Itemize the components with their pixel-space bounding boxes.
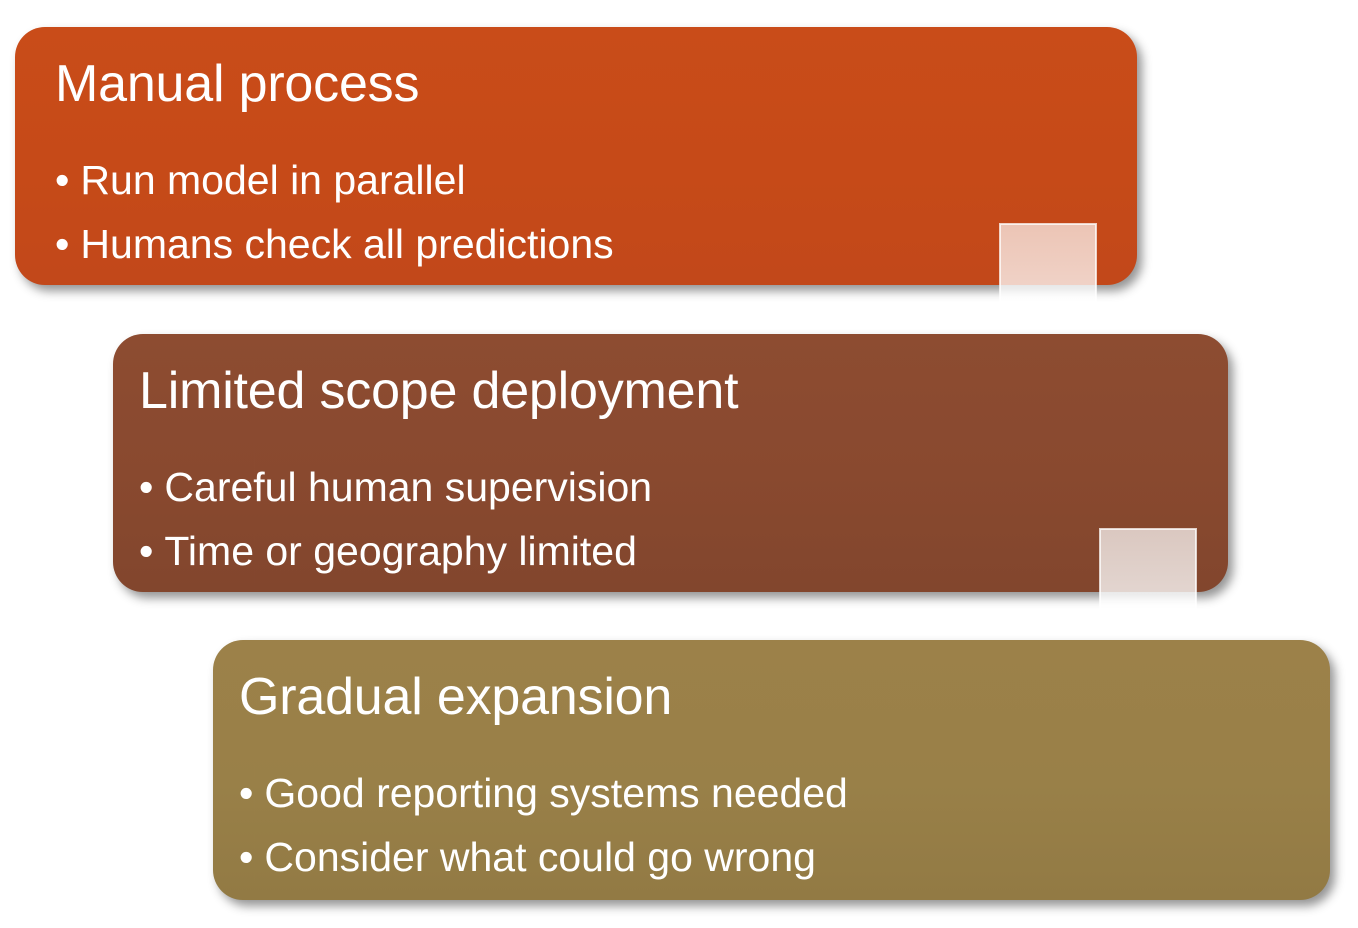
- list-item: •Good reporting systems needed: [239, 773, 1330, 814]
- stage-bullet-list-manual-process: •Run model in parallel •Humans check all…: [55, 160, 1137, 285]
- list-item: •Run model in parallel: [55, 160, 1137, 201]
- stage-bullet-list-limited-scope-deployment: •Careful human supervision •Time or geog…: [139, 467, 1228, 592]
- bullet-icon: •: [55, 224, 80, 265]
- list-item: •Time or geography limited: [139, 531, 1228, 572]
- bullet-text: Consider what could go wrong: [264, 834, 816, 880]
- stage-bullet-list-gradual-expansion: •Good reporting systems needed •Consider…: [239, 773, 1330, 900]
- bullet-text: Run model in parallel: [80, 157, 465, 203]
- bullet-icon: •: [239, 837, 264, 878]
- stage-card-gradual-expansion[interactable]: Gradual expansion •Good reporting system…: [213, 640, 1330, 900]
- stage-card-body: Manual process •Run model in parallel •H…: [15, 27, 1137, 285]
- bullet-icon: •: [139, 531, 164, 572]
- list-item: •Careful human supervision: [139, 467, 1228, 508]
- bullet-icon: •: [139, 467, 164, 508]
- bullet-icon: •: [55, 160, 80, 201]
- stage-card-body: Limited scope deployment •Careful human …: [113, 334, 1228, 592]
- stage-card-limited-scope-deployment[interactable]: Limited scope deployment •Careful human …: [113, 334, 1228, 592]
- list-item: •Consider what could go wrong: [239, 837, 1330, 878]
- stage-title-limited-scope-deployment: Limited scope deployment: [139, 365, 1228, 417]
- list-item: •Humans check all predictions: [55, 224, 1137, 265]
- bullet-text: Time or geography limited: [164, 528, 636, 574]
- process-flow-diagram: Manual process •Run model in parallel •H…: [0, 0, 1358, 928]
- bullet-icon: •: [239, 773, 264, 814]
- bullet-text: Careful human supervision: [164, 464, 652, 510]
- bullet-text: Humans check all predictions: [80, 221, 613, 267]
- stage-title-manual-process: Manual process: [55, 58, 1137, 110]
- stage-card-body: Gradual expansion •Good reporting system…: [213, 640, 1330, 900]
- stage-card-manual-process[interactable]: Manual process •Run model in parallel •H…: [15, 27, 1137, 285]
- bullet-text: Good reporting systems needed: [264, 770, 847, 816]
- stage-title-gradual-expansion: Gradual expansion: [239, 671, 1330, 723]
